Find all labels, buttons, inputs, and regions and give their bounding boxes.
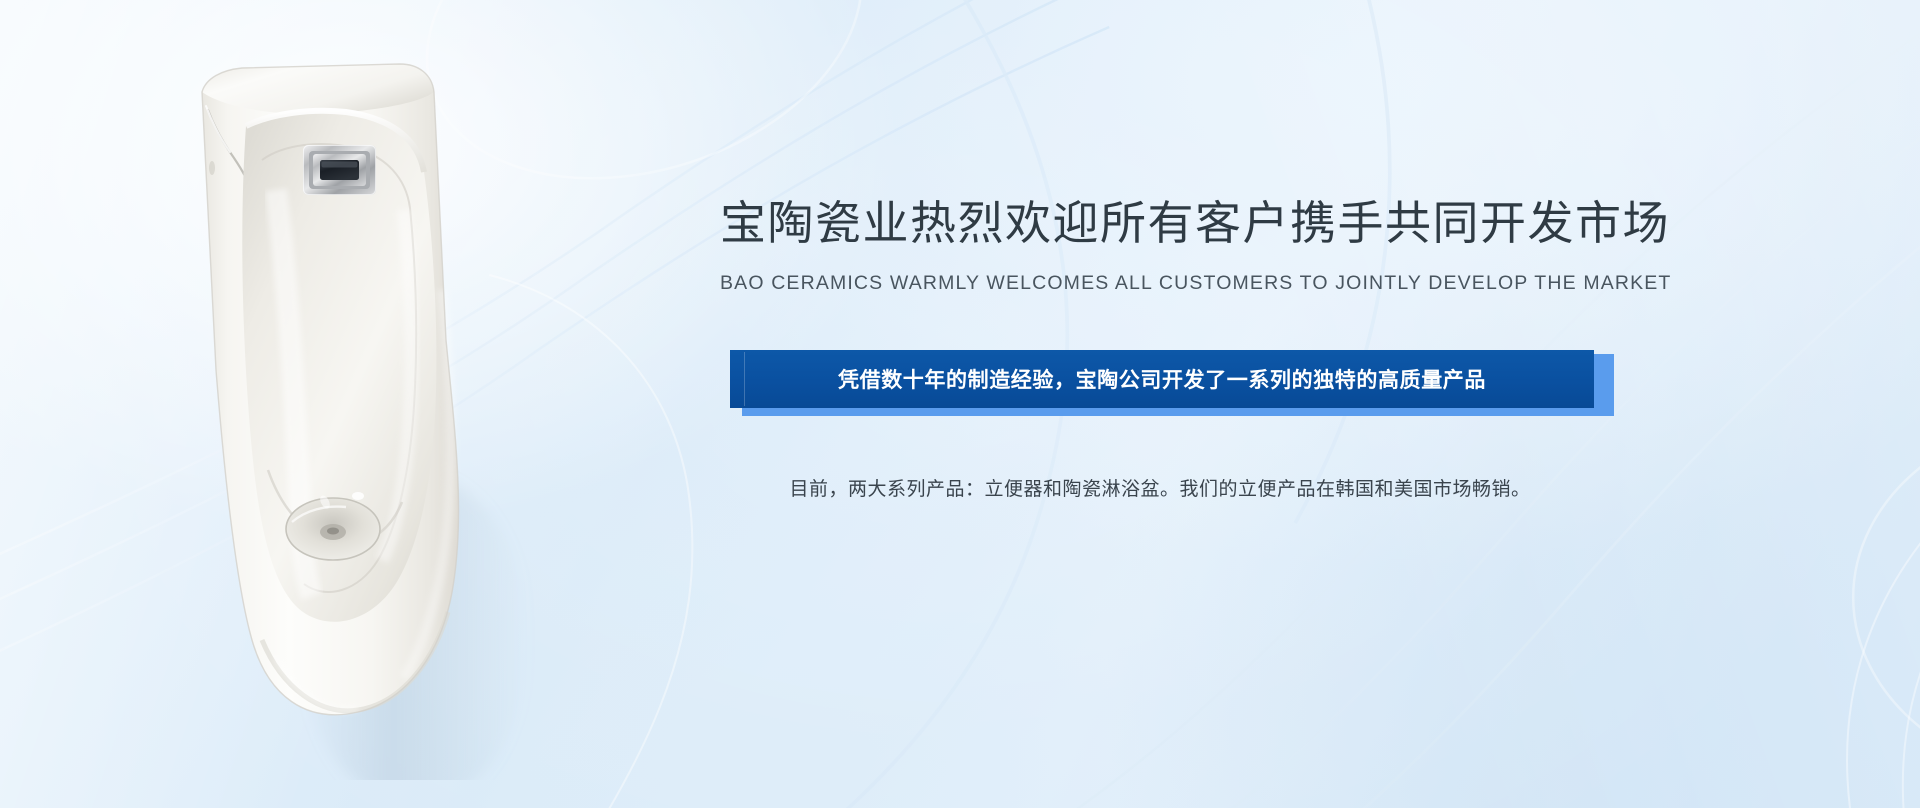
hero-banner: 宝陶瓷业热烈欢迎所有客户携手共同开发市场 BAO CERAMICS WARMLY… [0,0,1920,808]
description-paragraph: 目前，两大系列产品：立便器和陶瓷淋浴盆。我们的立便产品在韩国和美国市场畅销。 [720,474,1600,501]
band-main: 凭借数十年的制造经验，宝陶公司开发了一系列的独特的高质量产品 [730,350,1594,408]
highlight-band: 凭借数十年的制造经验，宝陶公司开发了一系列的独特的高质量产品 [720,350,1600,426]
page-title: 宝陶瓷业热烈欢迎所有客户携手共同开发市场 [720,196,1600,250]
urinal-product-image [150,40,570,780]
infrared-sensor-icon [303,145,376,195]
subtitle-english: BAO CERAMICS WARMLY WELCOMES ALL CUSTOME… [720,272,1600,295]
product-stage [150,40,570,780]
copy-column: 宝陶瓷业热烈欢迎所有客户携手共同开发市场 BAO CERAMICS WARMLY… [720,196,1600,501]
drain-grate-icon [286,498,380,560]
band-label: 凭借数十年的制造经验，宝陶公司开发了一系列的独特的高质量产品 [838,364,1486,394]
